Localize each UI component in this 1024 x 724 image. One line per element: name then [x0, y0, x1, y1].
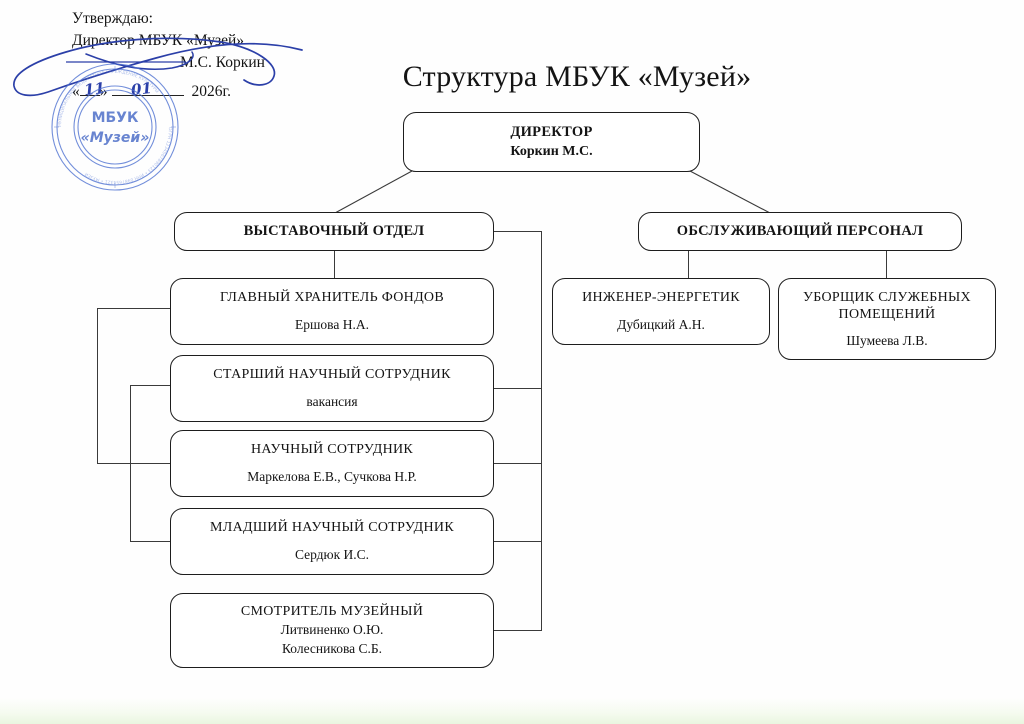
node-researcher-role: НАУЧНЫЙ СОТРУДНИК [251, 441, 413, 459]
node-power-engineer[interactable]: ИНЖЕНЕР-ЭНЕРГЕТИК Дубицкий А.Н. [552, 278, 770, 345]
node-service-staff[interactable]: ОБСЛУЖИВАЮЩИЙ ПЕРСОНАЛ [638, 212, 962, 251]
connector-right-stub-junior-researcher [494, 541, 541, 542]
node-office-cleaner[interactable]: УБОРЩИК СЛУЖЕБНЫХ ПОМЕЩЕНИЙ Шумеева Л.В. [778, 278, 996, 360]
approval-line-2: Директор МБУК «Музей» [72, 30, 265, 52]
node-junior-researcher-person: Сердюк И.С. [295, 547, 369, 564]
connector-left-outer-bracket [97, 308, 98, 463]
node-museum-attendant[interactable]: СМОТРИТЕЛЬ МУЗЕЙНЫЙ Литвиненко О.Ю. Коле… [170, 593, 494, 668]
node-museum-attendant-person-2: Колесникова С.Б. [282, 641, 382, 658]
node-chief-curator-person: Ершова Н.А. [295, 317, 369, 334]
connector-left-outer-bottom-arm [97, 463, 170, 464]
connector-right-stub-senior-researcher [494, 388, 541, 389]
connector-service-to-power-engineer [688, 251, 689, 278]
node-director-role: ДИРЕКТОР [510, 123, 592, 141]
node-senior-researcher-person: вакансия [306, 394, 357, 411]
node-museum-attendant-role: СМОТРИТЕЛЬ МУЗЕЙНЫЙ [241, 603, 423, 621]
scan-edge-tint [0, 698, 1024, 724]
document-page: Утверждаю: Директор МБУК «Музей» М.С. Ко… [0, 0, 1024, 724]
stamp-center-line-1: МБУК [92, 110, 139, 126]
connector-lines-diagonal [0, 0, 1024, 724]
node-senior-researcher[interactable]: СТАРШИЙ НАУЧНЫЙ СОТРУДНИК вакансия [170, 355, 494, 422]
connector-service-to-office-cleaner [886, 251, 887, 278]
approval-line-1: Утверждаю: [72, 8, 265, 30]
node-chief-curator[interactable]: ГЛАВНЫЙ ХРАНИТЕЛЬ ФОНДОВ Ершова Н.А. [170, 278, 494, 345]
connector-right-spine [541, 231, 542, 631]
node-exhibition-department[interactable]: ВЫСТАВОЧНЫЙ ОТДЕЛ [174, 212, 494, 251]
connector-left-inner-bottom-arm [130, 541, 170, 542]
node-director[interactable]: ДИРЕКТОР Коркин М.С. [403, 112, 700, 172]
connector-exhibition-to-chief-curator [334, 251, 335, 278]
connector-right-stub-researcher [494, 463, 541, 464]
stamp-center-line-2: «Музей» [81, 130, 150, 146]
node-senior-researcher-role: СТАРШИЙ НАУЧНЫЙ СОТРУДНИК [213, 366, 450, 384]
node-office-cleaner-person: Шумеева Л.В. [846, 333, 927, 350]
node-service-staff-role: ОБСЛУЖИВАЮЩИЙ ПЕРСОНАЛ [677, 222, 924, 240]
node-office-cleaner-role-line-1: УБОРЩИК СЛУЖЕБНЫХ [803, 289, 971, 307]
connector-right-stub-museum-attendant [494, 630, 541, 631]
node-power-engineer-role: ИНЖЕНЕР-ЭНЕРГЕТИК [582, 289, 740, 307]
node-exhibition-department-role: ВЫСТАВОЧНЫЙ ОТДЕЛ [244, 222, 425, 240]
svg-text:ОГРН 1234567890123 • ИНН 09876: ОГРН 1234567890123 • ИНН 0987654321 • МУ… [83, 127, 173, 185]
node-museum-attendant-person-1: Литвиненко О.Ю. [281, 622, 384, 639]
node-junior-researcher-role: МЛАДШИЙ НАУЧНЫЙ СОТРУДНИК [210, 519, 454, 537]
node-researcher-person: Маркелова Е.В., Сучкова Н.Р. [247, 469, 416, 486]
connector-left-inner-bracket [130, 385, 131, 541]
node-junior-researcher[interactable]: МЛАДШИЙ НАУЧНЫЙ СОТРУДНИК Сердюк И.С. [170, 508, 494, 575]
node-office-cleaner-role-line-2: ПОМЕЩЕНИЙ [839, 306, 936, 324]
node-power-engineer-person: Дубицкий А.Н. [617, 317, 705, 334]
connector-exhibition-right-stub [494, 231, 541, 232]
node-director-person: Коркин М.С. [510, 143, 592, 161]
node-chief-curator-role: ГЛАВНЫЙ ХРАНИТЕЛЬ ФОНДОВ [220, 289, 444, 307]
connector-left-outer-top-arm [97, 308, 170, 309]
connector-left-inner-top-arm [130, 385, 170, 386]
node-researcher[interactable]: НАУЧНЫЙ СОТРУДНИК Маркелова Е.В., Сучков… [170, 430, 494, 497]
page-title: Структура МБУК «Музей» [0, 60, 1024, 94]
